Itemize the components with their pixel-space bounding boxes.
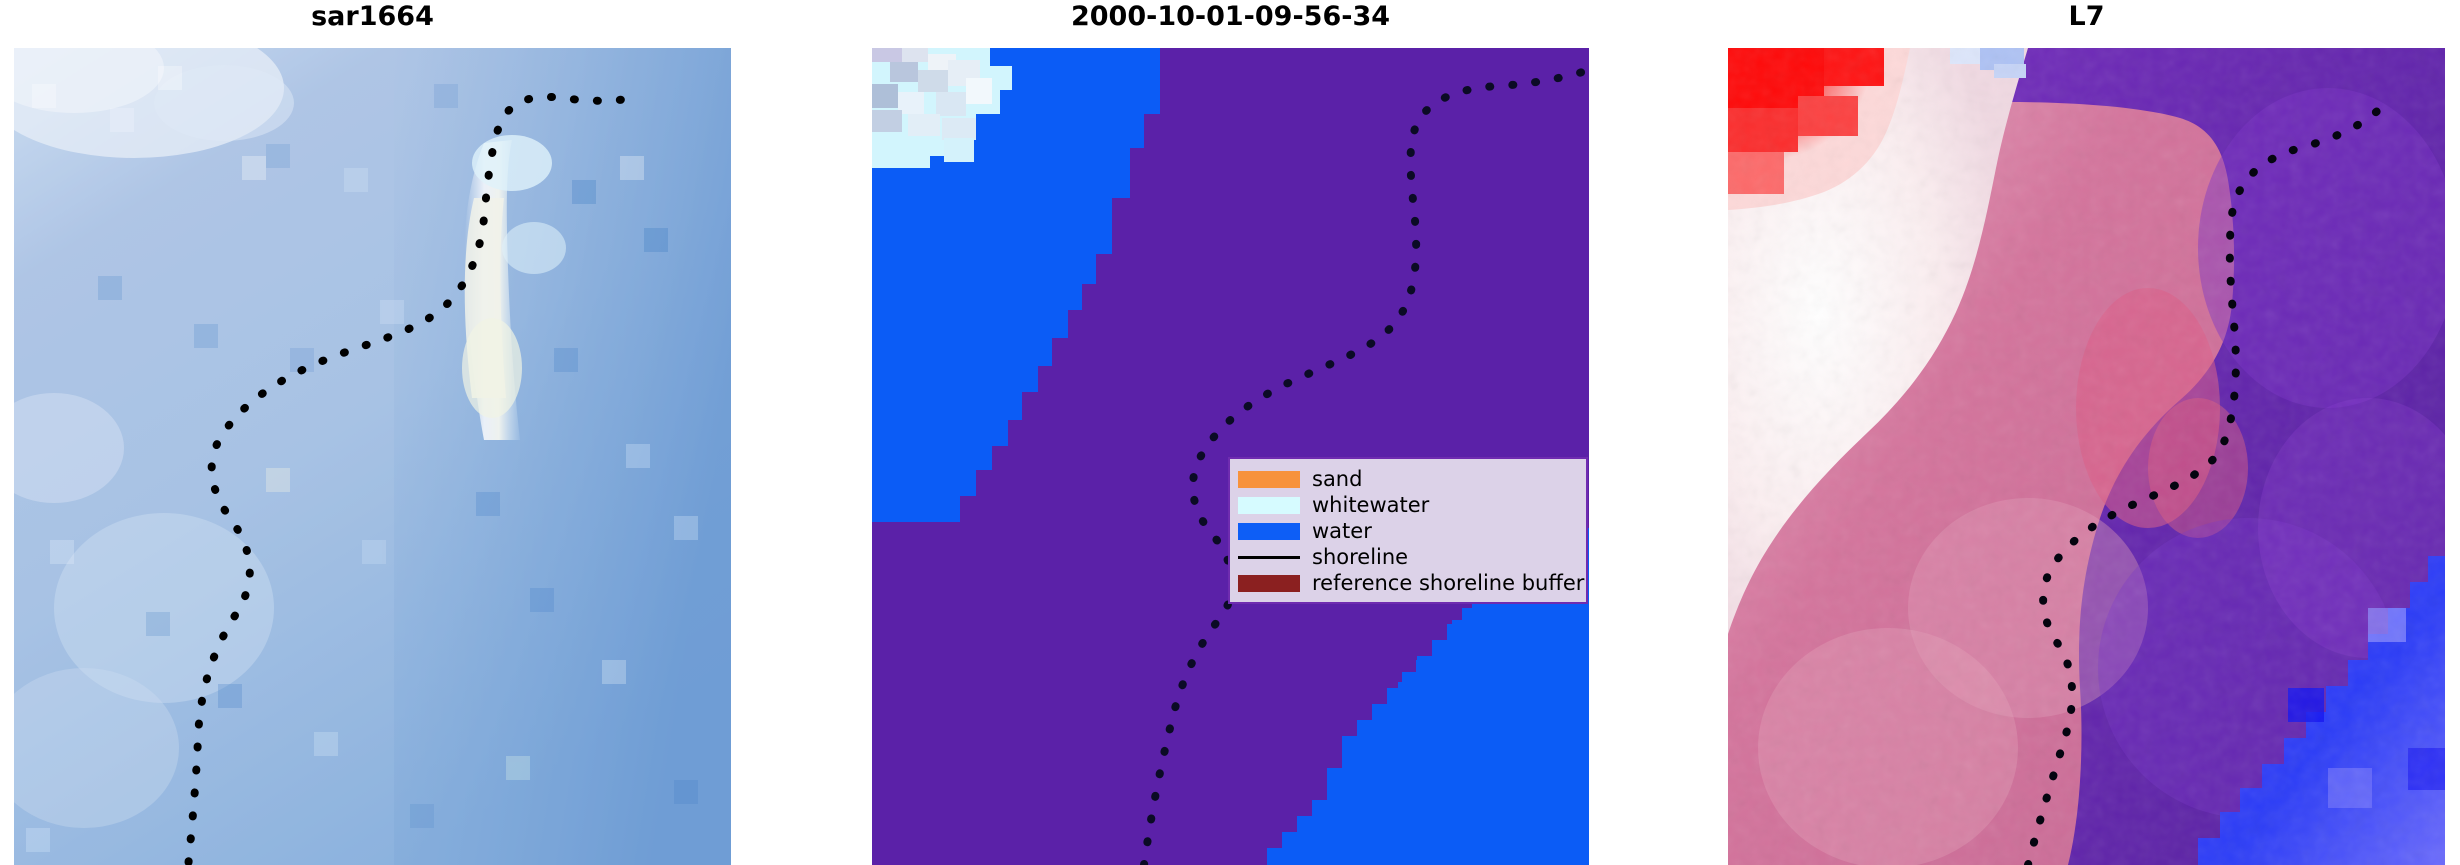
legend-swatch-shoreline [1238,556,1300,559]
image-axes-l7[interactable] [1728,48,2445,865]
legend-swatch-water [1238,523,1300,540]
legend-label-sand: sand [1312,468,1362,490]
panel-title-classification: 2000-10-01-09-56-34 [872,0,1589,34]
legend-label-water: water [1312,520,1372,542]
legend-label-whitewater: whitewater [1312,494,1429,516]
figure-canvas: sar1664 [0,0,2460,865]
legend-swatch-sand [1238,471,1300,488]
legend-item-whitewater: whitewater [1238,492,1578,518]
legend-label-shoreline: shoreline [1312,546,1408,568]
l7-image [1728,48,2445,865]
legend-swatch-reference-shoreline-buffer [1238,575,1300,592]
legend-item-shoreline: shoreline [1238,544,1578,570]
panel-title-sar: sar1664 [14,0,731,34]
image-axes-sar[interactable] [14,48,731,865]
legend-item-sand: sand [1238,466,1578,492]
legend-label-reference-shoreline-buffer: reference shoreline buffer [1312,572,1584,594]
legend-item-water: water [1238,518,1578,544]
sar-image [14,48,731,865]
legend-item-reference-shoreline-buffer: reference shoreline buffer [1238,570,1578,596]
panel-title-l7: L7 [1728,0,2445,34]
legend-swatch-whitewater [1238,497,1300,514]
legend: sand whitewater water shoreline referenc… [1228,457,1588,604]
